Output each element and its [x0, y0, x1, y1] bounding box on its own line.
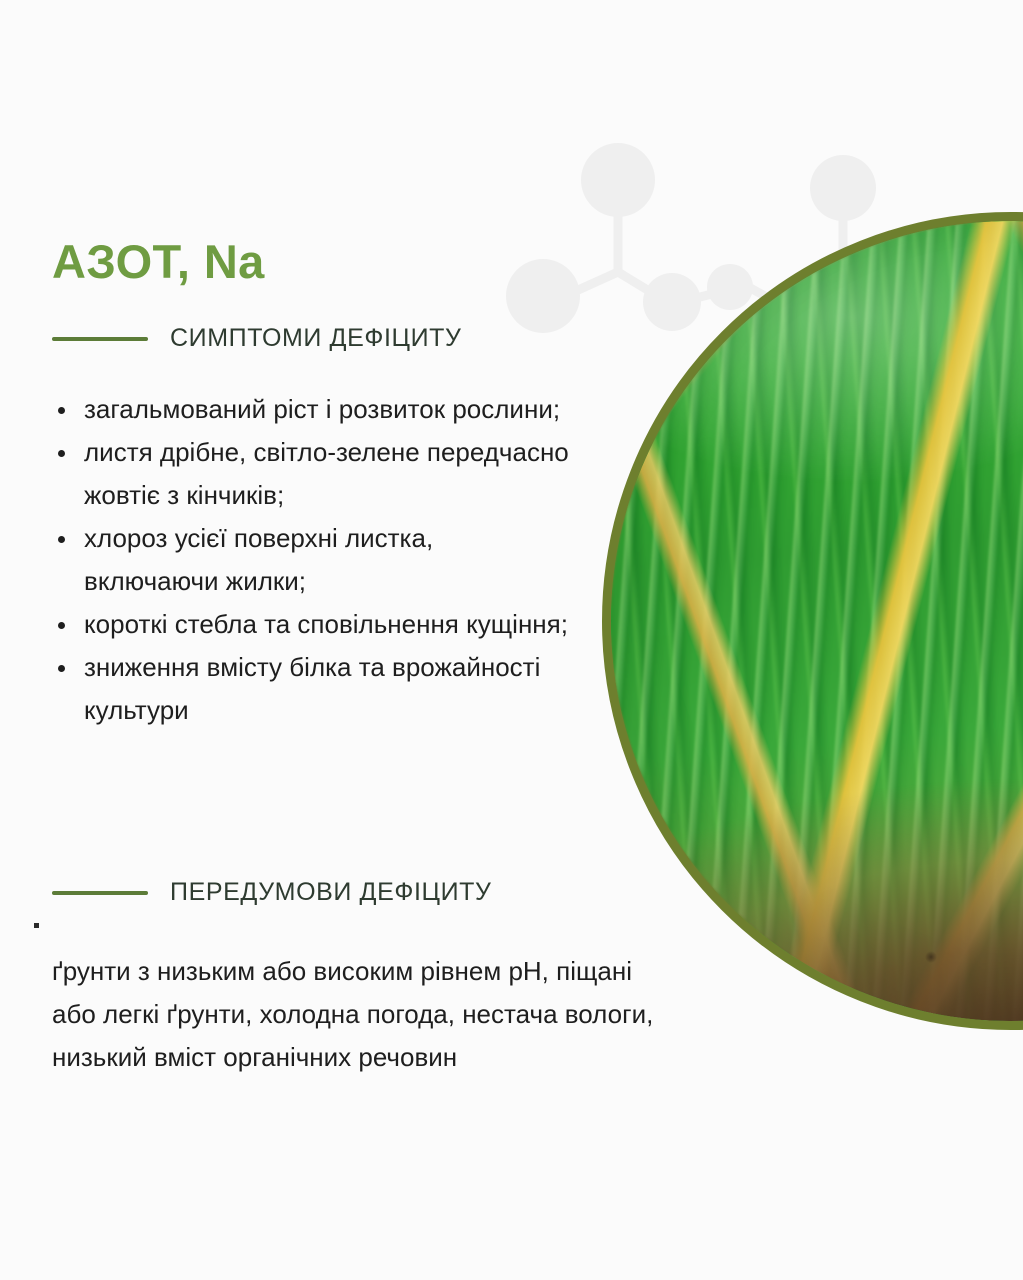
section-heading-causes: ПЕРЕДУМОВИ ДЕФІЦИТУ — [52, 878, 492, 907]
section-heading-symptoms: СИМПТОМИ ДЕФІЦИТУ — [52, 324, 462, 353]
content-column: АЗОТ, Na СИМПТОМИ ДЕФІЦИТУ загальмований… — [0, 0, 700, 1280]
list-item: короткі стебла та сповільнення кущіння; — [52, 603, 572, 646]
infographic-page: АЗОТ, Na СИМПТОМИ ДЕФІЦИТУ загальмований… — [0, 0, 1023, 1280]
heading-dash-icon — [52, 337, 148, 341]
molecule-node-top-right — [810, 155, 876, 221]
symptom-list: загальмований ріст і розвиток рослини; л… — [52, 388, 572, 732]
list-item: зниження вмісту білка та врожайності кул… — [52, 646, 572, 732]
causes-paragraph: ґрунти з низьким або високим рівнем pH, … — [52, 950, 682, 1079]
scan-artifact-dot — [34, 923, 39, 928]
heading-dash-icon — [52, 891, 148, 895]
page-title: АЗОТ, Na — [52, 234, 265, 289]
list-item: хлороз усієї поверхні листка, включаючи … — [52, 517, 572, 603]
list-item: листя дрібне, світло-зелене передчасно ж… — [52, 431, 572, 517]
section-heading-symptoms-label: СИМПТОМИ ДЕФІЦИТУ — [170, 324, 462, 353]
section-heading-causes-label: ПЕРЕДУМОВИ ДЕФІЦИТУ — [170, 878, 492, 907]
list-item: загальмований ріст і розвиток рослини; — [52, 388, 572, 431]
